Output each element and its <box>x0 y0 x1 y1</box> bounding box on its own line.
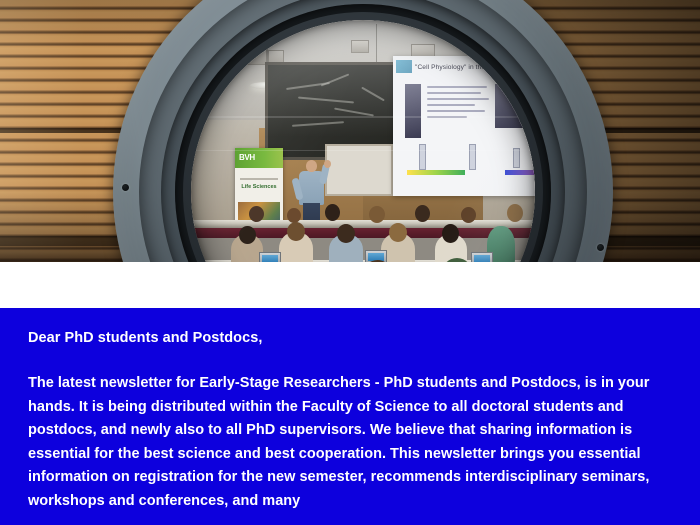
student-head <box>325 204 340 221</box>
slide-colorbar-green <box>407 170 465 175</box>
slide-figure-left <box>405 84 421 138</box>
projection-screen: "Cell Physiology" in the computer <box>393 56 535 196</box>
student-torso <box>533 234 535 262</box>
newsletter-page: "Cell Physiology" in the computer <box>0 0 700 525</box>
student-head <box>337 224 355 243</box>
greeting-text: Dear PhD students and Postdocs, <box>28 330 670 346</box>
slide-colorbar-red <box>505 170 535 175</box>
ceiling-spotlight-2 <box>527 42 535 54</box>
student-head <box>249 206 264 222</box>
slide-logo-icon <box>396 60 412 73</box>
student-head <box>287 222 305 241</box>
student-head <box>461 207 476 223</box>
chalk-mark <box>334 108 374 117</box>
student-head <box>389 223 407 242</box>
slide-text-line <box>427 116 467 118</box>
porthole-bolt-right <box>597 244 604 251</box>
chalk-mark <box>321 73 350 86</box>
porthole-window-icon: "Cell Physiology" in the computer <box>113 0 613 262</box>
slide-text-line <box>427 98 489 100</box>
slide-text-line <box>531 94 535 96</box>
chalk-mark <box>292 121 344 127</box>
body-paragraph: The latest newsletter for Early-Stage Re… <box>28 372 670 513</box>
ceiling-projector-1 <box>239 48 267 65</box>
message-inner: Dear PhD students and Postdocs, The late… <box>0 308 700 513</box>
slide-text-line <box>427 86 487 88</box>
slide-text-line <box>427 92 481 94</box>
slide-cell-trace <box>419 144 426 170</box>
chalk-mark <box>361 87 385 102</box>
laptop <box>259 252 281 262</box>
slide-text-line <box>427 110 485 112</box>
porthole-glass: "Cell Physiology" in the computer <box>191 20 535 262</box>
student-head <box>287 208 301 223</box>
lecturer-head <box>306 160 317 172</box>
student-head <box>442 224 459 243</box>
slide-cell-trace <box>513 148 520 168</box>
lecture-hall-scene: "Cell Physiology" in the computer <box>191 20 535 262</box>
message-block: Dear PhD students and Postdocs, The late… <box>0 308 700 525</box>
laptop <box>471 252 493 262</box>
slide-figure-center <box>495 84 525 128</box>
slide-text-line <box>531 88 535 90</box>
content-spacer <box>0 262 700 308</box>
slide-title: "Cell Physiology" in the computer <box>415 64 535 71</box>
banner-logo: BVH <box>239 153 255 162</box>
hero-photo: "Cell Physiology" in the computer <box>0 0 700 262</box>
ceiling-projector-3 <box>351 40 369 53</box>
porthole-bolt-left <box>122 184 129 191</box>
student-head <box>239 226 256 244</box>
student-head <box>415 205 430 222</box>
banner-header: BVH <box>235 148 283 168</box>
banner-divider <box>240 178 278 180</box>
lecturer-hand <box>324 160 331 168</box>
slide-text-line <box>531 100 535 102</box>
chalk-mark <box>298 97 354 104</box>
slide-cell-trace <box>469 144 476 170</box>
student-head <box>507 204 523 222</box>
slide-text-line <box>427 104 475 106</box>
laptop-screen <box>262 255 278 262</box>
banner-title: Life Sciences <box>235 184 283 190</box>
laptop-screen <box>474 255 490 262</box>
whiteboard <box>325 144 393 196</box>
slide-body <box>399 78 535 178</box>
student-head <box>369 206 385 223</box>
